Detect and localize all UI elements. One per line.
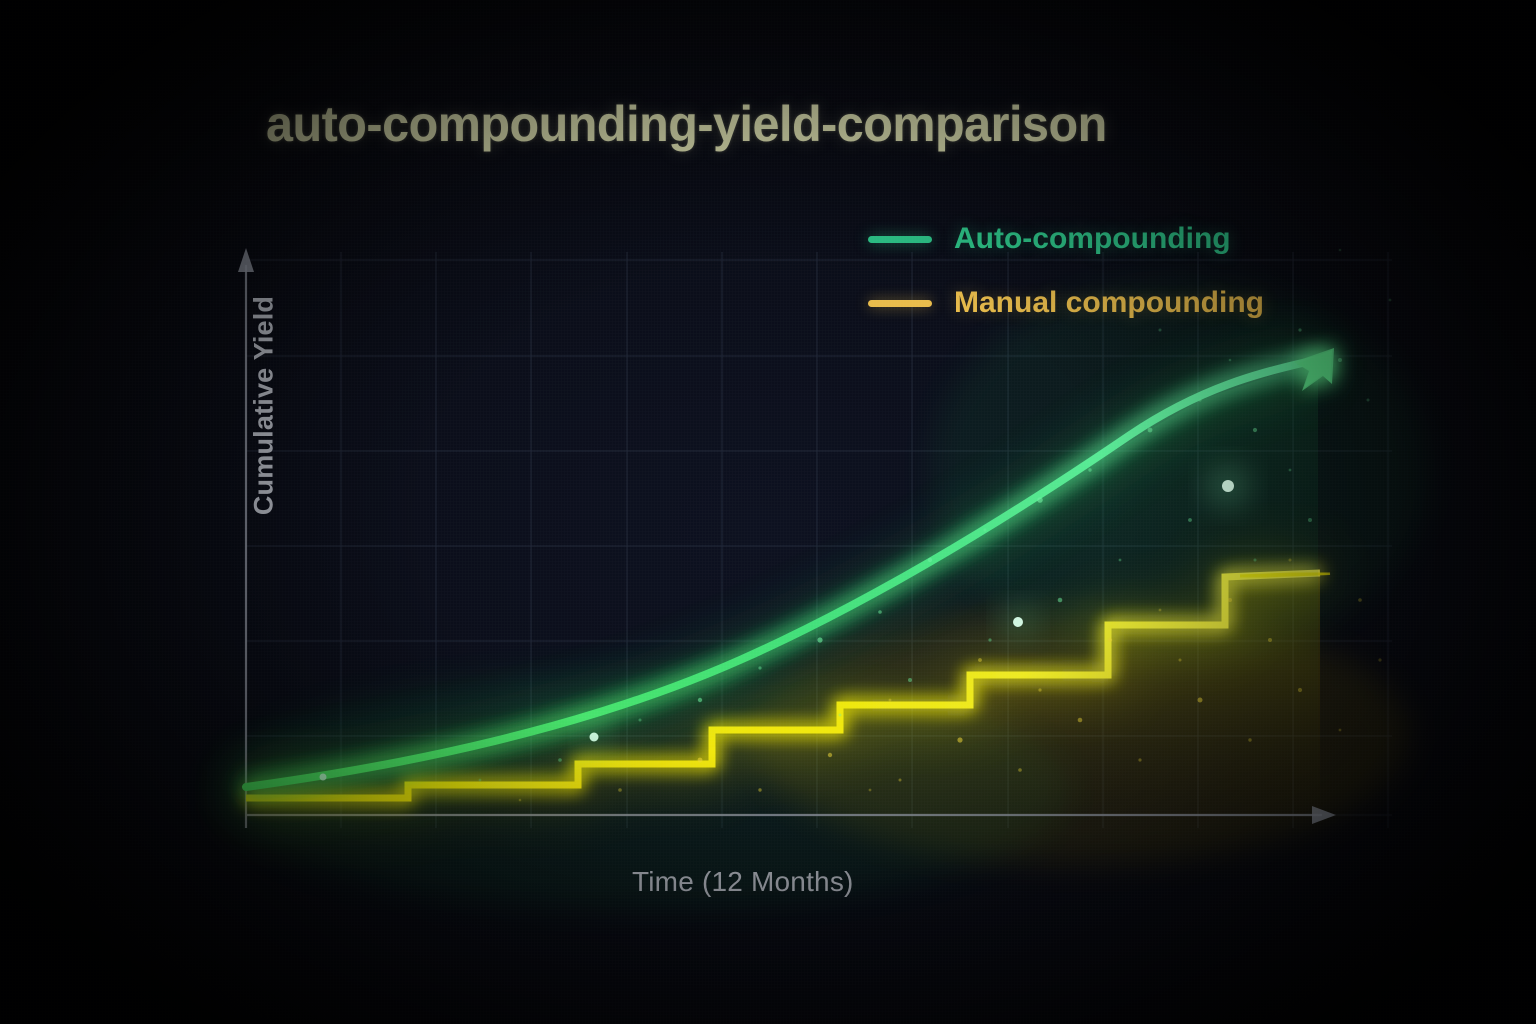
legend-swatch-auto-compounding bbox=[868, 236, 932, 243]
legend-item-manual-compounding[interactable]: Manual compounding bbox=[868, 286, 1264, 320]
legend-label-auto-compounding: Auto-compounding bbox=[954, 222, 1231, 256]
y-axis-label: Cumulative Yield bbox=[249, 266, 280, 546]
legend-label-manual-compounding: Manual compounding bbox=[954, 286, 1264, 320]
chart-legend: Auto-compounding Manual compounding bbox=[868, 222, 1264, 320]
legend-swatch-manual-compounding bbox=[868, 300, 932, 307]
chart-title: auto-compounding-yield-comparison bbox=[266, 95, 1107, 153]
x-axis-label: Time (12 Months) bbox=[632, 866, 854, 898]
legend-item-auto-compounding[interactable]: Auto-compounding bbox=[868, 222, 1264, 256]
chart-canvas: auto-compounding-yield-comparison Auto-c… bbox=[0, 0, 1536, 1024]
